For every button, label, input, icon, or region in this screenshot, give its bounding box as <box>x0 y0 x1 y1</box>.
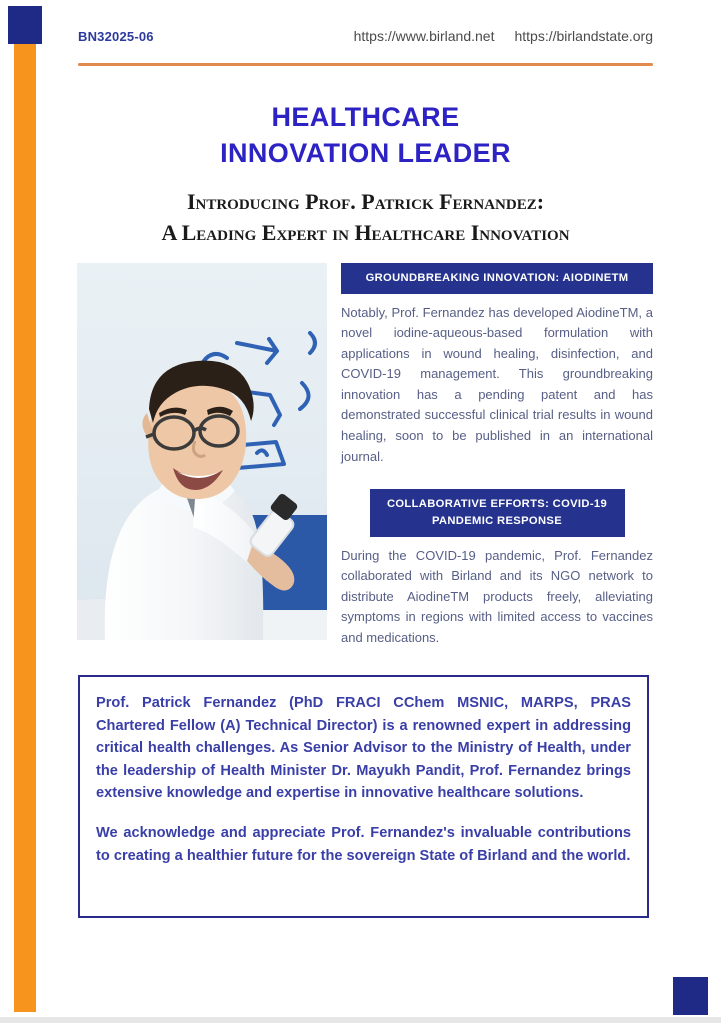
portrait-photo <box>77 263 327 640</box>
page-subtitle: Introducing Prof. Patrick Fernandez: A L… <box>78 186 653 248</box>
summary-box: Prof. Patrick Fernandez (PhD FRACI CChem… <box>78 675 649 918</box>
section-body-collaboration: During the COVID-19 pandemic, Prof. Fern… <box>341 546 653 649</box>
page-title-line-2: INNOVATION LEADER <box>78 136 653 172</box>
section-banner-collaboration: COLLABORATIVE EFFORTS: COVID-19 PANDEMIC… <box>370 489 625 537</box>
right-content-column: GROUNDBREAKING INNOVATION: AIODINETM Not… <box>341 263 653 648</box>
page-bottom-edge <box>0 1017 721 1023</box>
url-secondary[interactable]: https://birlandstate.org <box>514 28 653 44</box>
header-divider-rule <box>78 63 653 66</box>
summary-paragraph-2: We acknowledge and appreciate Prof. Fern… <box>96 822 631 867</box>
page-header: BN32025-06 https://www.birland.net https… <box>78 28 653 44</box>
summary-paragraph-1: Prof. Patrick Fernandez (PhD FRACI CChem… <box>96 692 631 805</box>
header-urls: https://www.birland.net https://birlands… <box>354 28 653 44</box>
corner-square-bottom-right <box>673 977 708 1015</box>
page-title: HEALTHCARE INNOVATION LEADER <box>78 100 653 171</box>
left-orange-accent-bar <box>14 44 36 1012</box>
page-subtitle-line-2: A Leading Expert in Healthcare Innovatio… <box>78 217 653 248</box>
reference-number: BN32025-06 <box>78 29 154 44</box>
url-primary[interactable]: https://www.birland.net <box>354 28 495 44</box>
page-title-line-1: HEALTHCARE <box>78 100 653 136</box>
section-banner-innovation: GROUNDBREAKING INNOVATION: AIODINETM <box>341 263 653 294</box>
portrait-photo-illustration <box>77 263 327 640</box>
corner-square-top-left <box>8 6 42 44</box>
section-body-innovation: Notably, Prof. Fernandez has developed A… <box>341 303 653 467</box>
document-page: BN32025-06 https://www.birland.net https… <box>0 0 721 1023</box>
section-spacer <box>341 467 653 489</box>
page-subtitle-line-1: Introducing Prof. Patrick Fernandez: <box>78 186 653 217</box>
